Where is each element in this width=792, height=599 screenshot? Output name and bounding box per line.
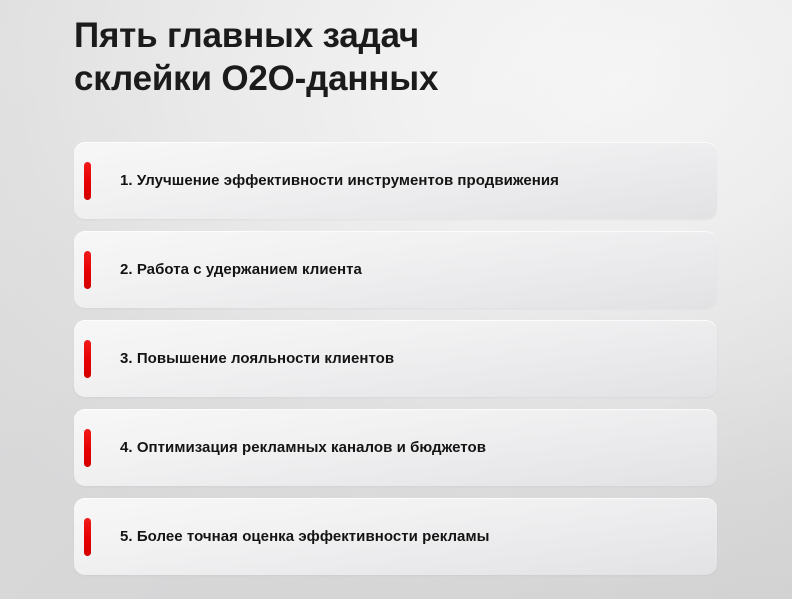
task-card-4: 4. Оптимизация рекламных каналов и бюдже… (74, 409, 717, 486)
accent-bar-icon (84, 162, 91, 200)
task-card-5: 5. Более точная оценка эффективности рек… (74, 498, 717, 575)
task-list: 1. Улучшение эффективности инструментов … (74, 142, 717, 575)
task-label: 4. Оптимизация рекламных каналов и бюдже… (120, 438, 717, 458)
slide-title: Пять главных задач склейки O2O-данных (74, 14, 714, 100)
accent-bar-icon (84, 518, 91, 556)
task-card-3: 3. Повышение лояльности клиентов (74, 320, 717, 397)
task-label: 2. Работа с удержанием клиента (120, 260, 717, 280)
task-label: 1. Улучшение эффективности инструментов … (120, 171, 717, 191)
accent-bar-icon (84, 251, 91, 289)
task-card-2: 2. Работа с удержанием клиента (74, 231, 717, 308)
accent-bar-icon (84, 340, 91, 378)
task-card-1: 1. Улучшение эффективности инструментов … (74, 142, 717, 219)
accent-bar-icon (84, 429, 91, 467)
presentation-slide: Пять главных задач склейки O2O-данных 1.… (0, 0, 792, 599)
task-label: 5. Более точная оценка эффективности рек… (120, 527, 717, 547)
task-label: 3. Повышение лояльности клиентов (120, 349, 717, 369)
